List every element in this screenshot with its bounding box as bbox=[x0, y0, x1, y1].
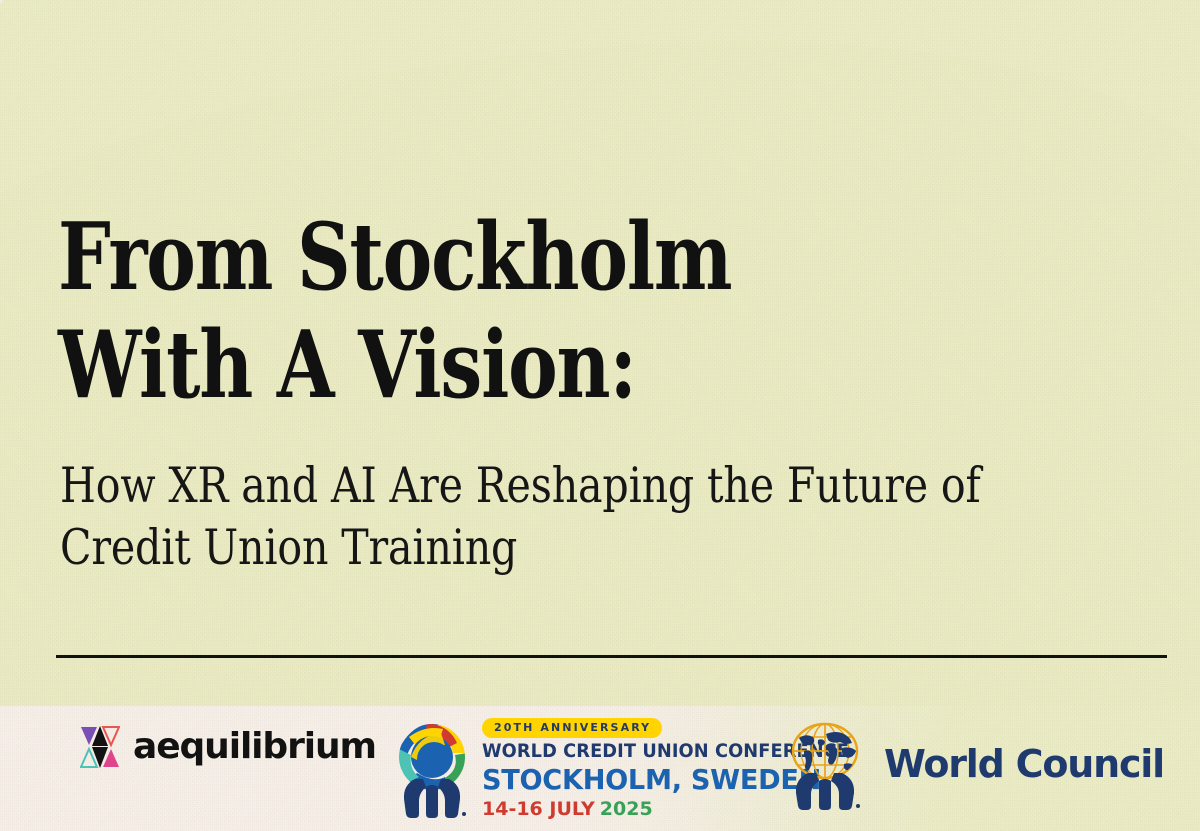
page-subtitle: How XR and AI Are Reshaping the Future o… bbox=[60, 455, 984, 579]
anniversary-badge: 20TH ANNIVERSARY bbox=[482, 718, 662, 738]
aequilibrium-wordmark: aequilibrium bbox=[133, 729, 376, 765]
page-title: From Stockholm With A Vision: bbox=[58, 203, 826, 419]
world-council-globe-in-hands-icon bbox=[782, 718, 868, 810]
world-council-wordmark: World Council bbox=[884, 745, 1164, 783]
wcuc-globe-in-hands-icon bbox=[393, 719, 471, 819]
aequilibrium-triangles-icon bbox=[80, 725, 120, 769]
slide-canvas: From Stockholm With A Vision: How XR and… bbox=[0, 0, 1200, 831]
world-council-logo: World Council bbox=[782, 718, 1164, 810]
horizontal-divider bbox=[56, 655, 1167, 658]
footer-logo-row: aequilibrium bbox=[0, 706, 1200, 831]
wcuc-dates: 14-16 JULY bbox=[482, 798, 595, 820]
aequilibrium-logo: aequilibrium bbox=[80, 725, 376, 769]
wcuc-year: 2025 bbox=[600, 798, 653, 820]
